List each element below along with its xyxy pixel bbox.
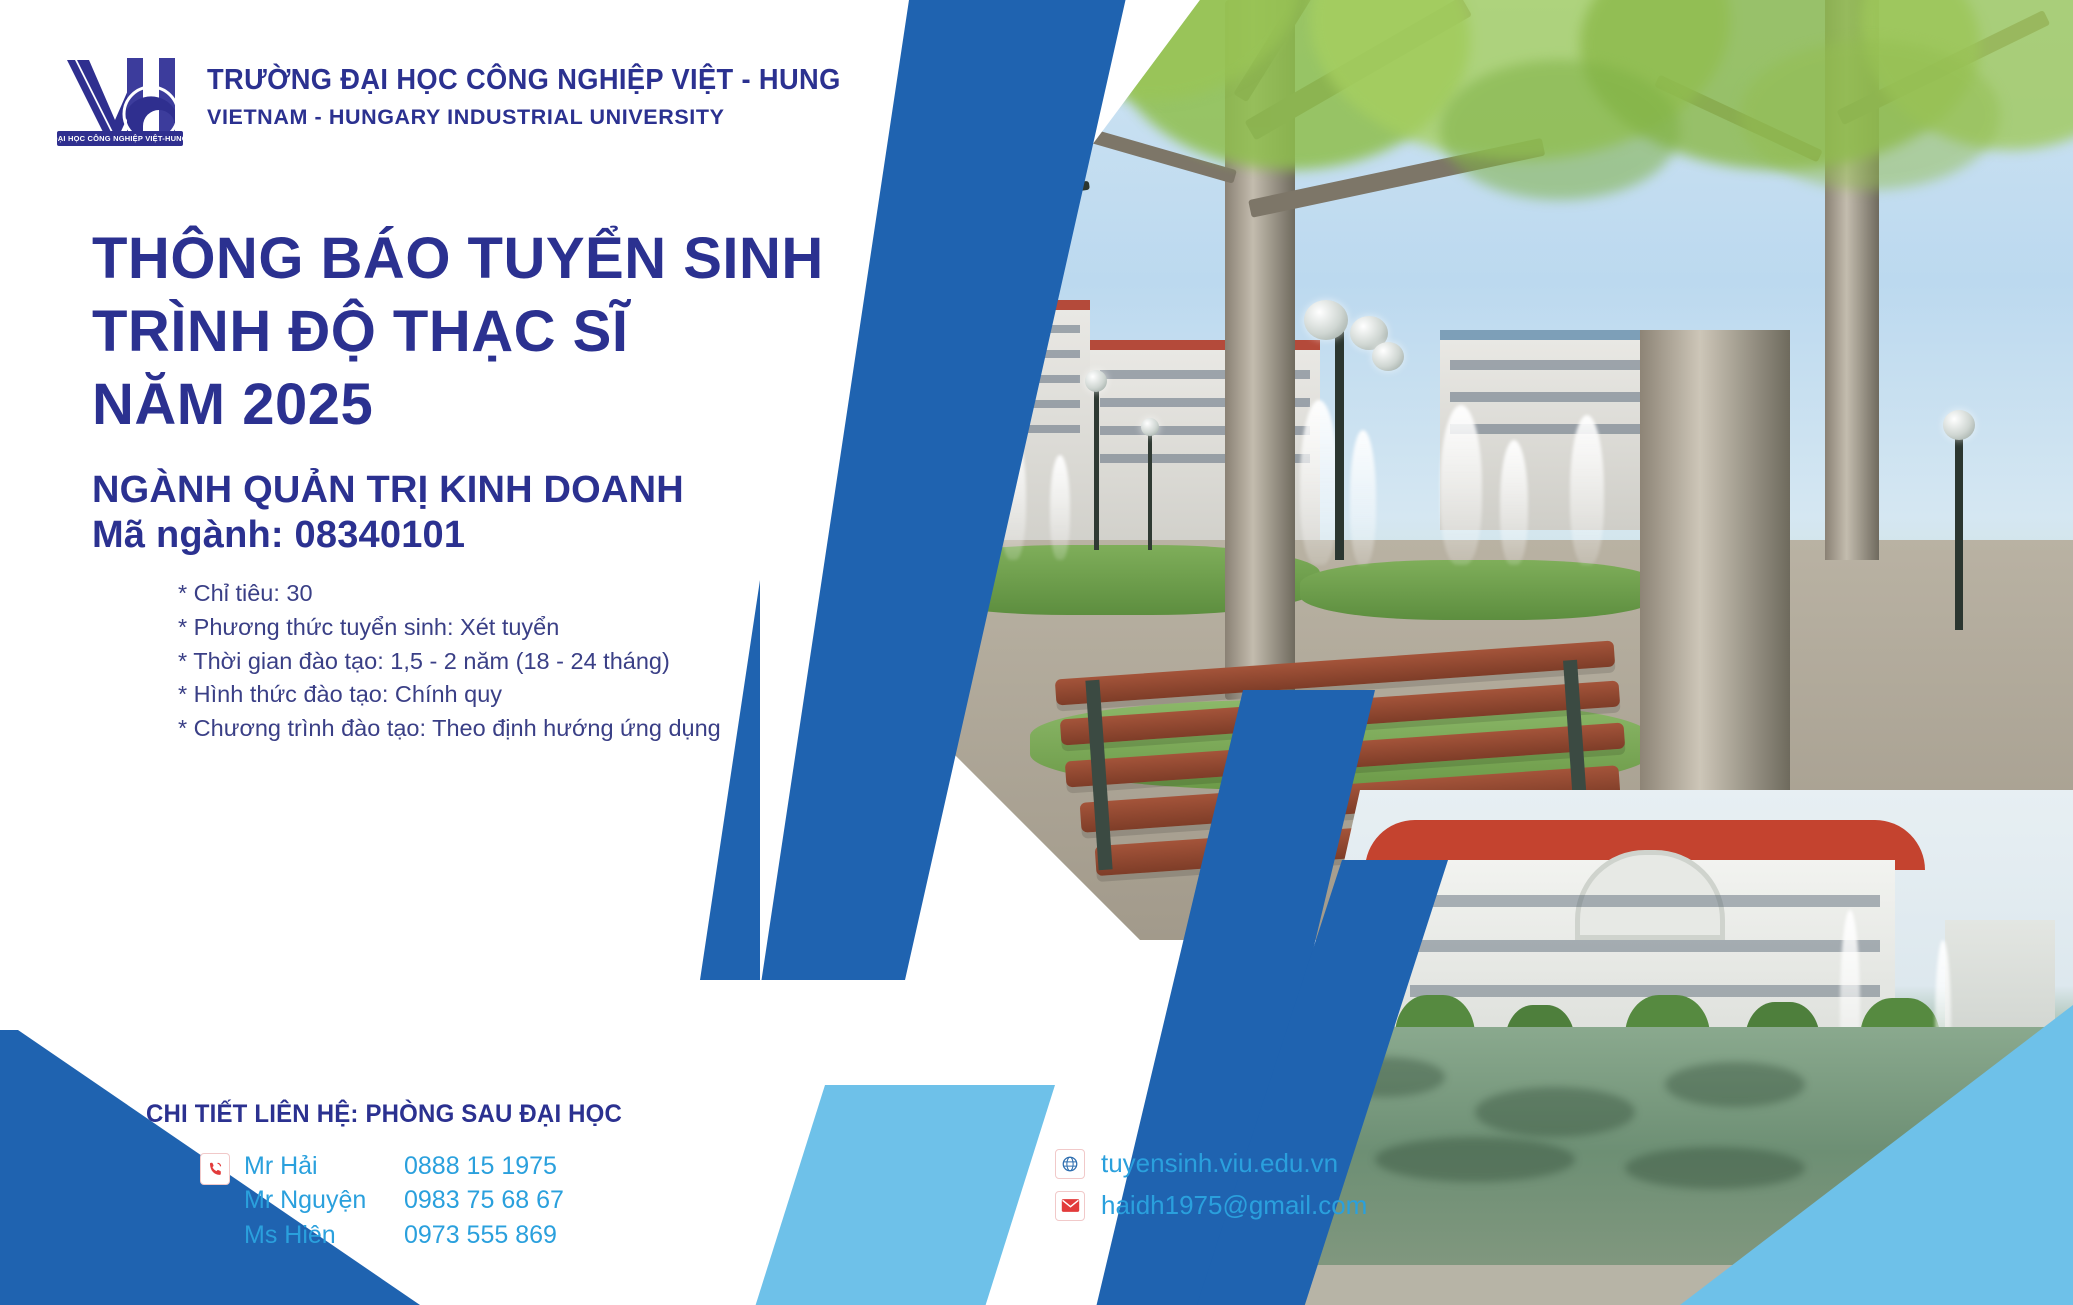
list-item: * Chỉ tiêu: 30 <box>178 577 721 611</box>
globe-icon <box>1055 1149 1085 1179</box>
email-row[interactable]: haidh1975@gmail.com <box>1055 1190 1367 1221</box>
org-name-vn: TRƯỜNG ĐẠI HỌC CÔNG NGHIỆP VIỆT - HUNG <box>207 64 841 97</box>
title-line-1: THÔNG BÁO TUYỂN SINH <box>92 222 824 295</box>
poster-header: ĐẠI HỌC CÔNG NGHIỆP VIỆT-HUNG TRƯỜNG ĐẠI… <box>55 48 881 146</box>
contact-phone[interactable]: 0973 555 869 <box>404 1219 557 1252</box>
contact-phone[interactable]: 0983 75 68 67 <box>404 1184 564 1217</box>
title-line-3: NĂM 2025 <box>92 368 824 441</box>
contact-name: Ms Hiên <box>244 1219 394 1252</box>
list-item[interactable]: Mr Hải 0888 15 1975 <box>244 1150 564 1183</box>
university-logo: ĐẠI HỌC CÔNG NGHIỆP VIỆT-HUNG <box>55 48 185 146</box>
contact-phone-block: Mr Hải 0888 15 1975 Mr Nguyện 0983 75 68… <box>200 1150 564 1252</box>
contact-web-block: tuyensinh.viu.edu.vn haidh1975@gmail.com <box>1055 1148 1367 1221</box>
list-item[interactable]: Ms Hiên 0973 555 869 <box>244 1219 564 1252</box>
list-item: * Chương trình đào tạo: Theo định hướng … <box>178 712 721 746</box>
email-link[interactable]: haidh1975@gmail.com <box>1101 1190 1367 1221</box>
major-block: NGÀNH QUẢN TRỊ KINH DOANH Mã ngành: 0834… <box>92 468 684 558</box>
website-row[interactable]: tuyensinh.viu.edu.vn <box>1055 1148 1367 1179</box>
major-name: NGÀNH QUẢN TRỊ KINH DOANH <box>92 468 684 513</box>
contact-name: Mr Nguyện <box>244 1184 394 1217</box>
list-item[interactable]: Mr Nguyện 0983 75 68 67 <box>244 1184 564 1217</box>
major-code: Mã ngành: 08340101 <box>92 513 684 558</box>
poster-title-block: THÔNG BÁO TUYỂN SINH TRÌNH ĐỘ THẠC SĨ NĂ… <box>92 222 824 441</box>
list-item: * Thời gian đào tạo: 1,5 - 2 năm (18 - 2… <box>178 645 721 679</box>
list-item: * Hình thức đào tạo: Chính quy <box>178 678 721 712</box>
mail-icon <box>1055 1191 1085 1221</box>
logo-band: ĐẠI HỌC CÔNG NGHIỆP VIỆT-HUNG <box>57 131 183 146</box>
title-line-2: TRÌNH ĐỘ THẠC SĨ <box>92 295 824 368</box>
contact-phone[interactable]: 0888 15 1975 <box>404 1150 557 1183</box>
program-details-list: * Chỉ tiêu: 30 * Phương thức tuyển sinh:… <box>178 577 721 746</box>
phone-rows: Mr Hải 0888 15 1975 Mr Nguyện 0983 75 68… <box>244 1150 564 1252</box>
contact-heading: CHI TIẾT LIÊN HỆ: PHÒNG SAU ĐẠI HỌC <box>146 1100 622 1129</box>
org-names: TRƯỜNG ĐẠI HỌC CÔNG NGHIỆP VIỆT - HUNG V… <box>207 64 881 130</box>
org-name-en: VIETNAM - HUNGARY INDUSTRIAL UNIVERSITY <box>207 105 881 130</box>
phone-icon <box>200 1153 230 1185</box>
list-item: * Phương thức tuyển sinh: Xét tuyển <box>178 611 721 645</box>
admission-poster: ĐẠI HỌC CÔNG NGHIỆP VIỆT-HUNG TRƯỜNG ĐẠI… <box>0 0 2073 1305</box>
website-link[interactable]: tuyensinh.viu.edu.vn <box>1101 1148 1338 1179</box>
contact-name: Mr Hải <box>244 1150 394 1183</box>
logo-band-text: ĐẠI HỌC CÔNG NGHIỆP VIỆT-HUNG <box>52 134 188 143</box>
